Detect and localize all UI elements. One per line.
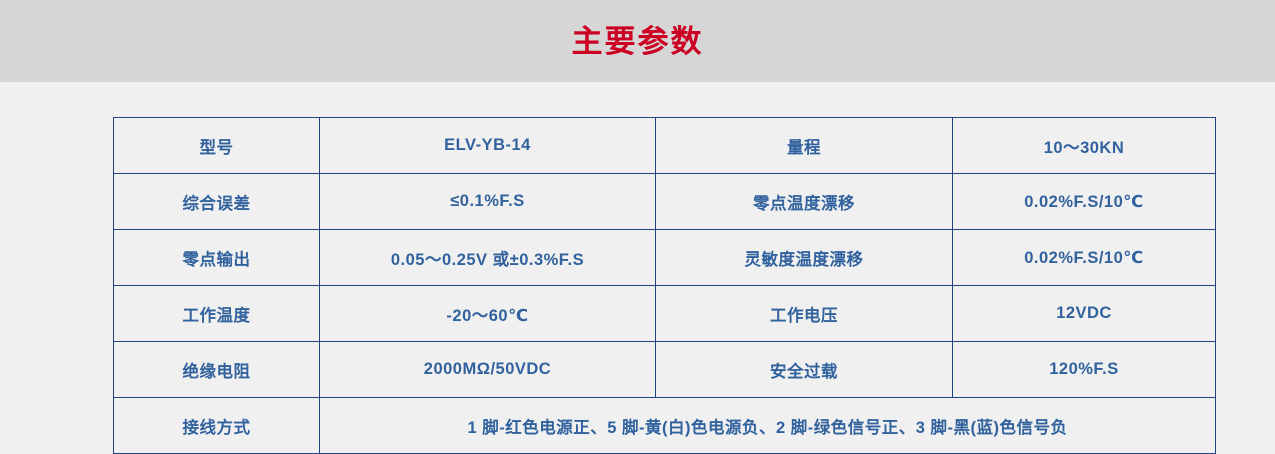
spec-value-safe-overload: 120%F.S	[953, 342, 1216, 398]
spec-value-working-voltage: 12VDC	[953, 286, 1216, 342]
spec-label-comprehensive-error: 综合误差	[114, 174, 320, 230]
spec-table: 型号 ELV-YB-14 量程 10～30KN 综合误差 ≤0.1%F.S 零点…	[113, 117, 1216, 454]
spec-value-range: 10～30KN	[953, 118, 1216, 174]
spec-label-zero-temp-drift: 零点温度漂移	[656, 174, 953, 230]
spec-label-wiring: 接线方式	[114, 398, 320, 454]
spec-label-range: 量程	[656, 118, 953, 174]
spec-value-insulation-resistance: 2000MΩ/50VDC	[320, 342, 656, 398]
table-row-wiring: 接线方式 1 脚-红色电源正、5 脚-黄(白)色电源负、2 脚-绿色信号正、3 …	[114, 398, 1216, 454]
spec-label-safe-overload: 安全过载	[656, 342, 953, 398]
table-row: 工作温度 -20～60℃ 工作电压 12VDC	[114, 286, 1216, 342]
spec-value-sensitivity-temp-drift: 0.02%F.S/10℃	[953, 230, 1216, 286]
spec-value-working-temperature: -20～60℃	[320, 286, 656, 342]
spec-label-working-voltage: 工作电压	[656, 286, 953, 342]
page-title: 主要参数	[0, 0, 1275, 82]
table-row: 综合误差 ≤0.1%F.S 零点温度漂移 0.02%F.S/10℃	[114, 174, 1216, 230]
spec-table-container: 型号 ELV-YB-14 量程 10～30KN 综合误差 ≤0.1%F.S 零点…	[113, 117, 1163, 447]
spec-sheet-page: 主要参数 型号 ELV-YB-14 量程 10～30KN 综合误差 ≤0.1%F…	[0, 0, 1275, 452]
spec-value-model: ELV-YB-14	[320, 118, 656, 174]
spec-value-wiring: 1 脚-红色电源正、5 脚-黄(白)色电源负、2 脚-绿色信号正、3 脚-黑(蓝…	[320, 398, 1216, 454]
table-row: 绝缘电阻 2000MΩ/50VDC 安全过载 120%F.S	[114, 342, 1216, 398]
spec-value-zero-output: 0.05～0.25V 或±0.3%F.S	[320, 230, 656, 286]
spec-label-sensitivity-temp-drift: 灵敏度温度漂移	[656, 230, 953, 286]
spec-label-model: 型号	[114, 118, 320, 174]
spec-value-comprehensive-error: ≤0.1%F.S	[320, 174, 656, 230]
table-row: 型号 ELV-YB-14 量程 10～30KN	[114, 118, 1216, 174]
spec-label-zero-output: 零点输出	[114, 230, 320, 286]
spec-label-insulation-resistance: 绝缘电阻	[114, 342, 320, 398]
table-row: 零点输出 0.05～0.25V 或±0.3%F.S 灵敏度温度漂移 0.02%F…	[114, 230, 1216, 286]
spec-value-zero-temp-drift: 0.02%F.S/10℃	[953, 174, 1216, 230]
spec-label-working-temperature: 工作温度	[114, 286, 320, 342]
